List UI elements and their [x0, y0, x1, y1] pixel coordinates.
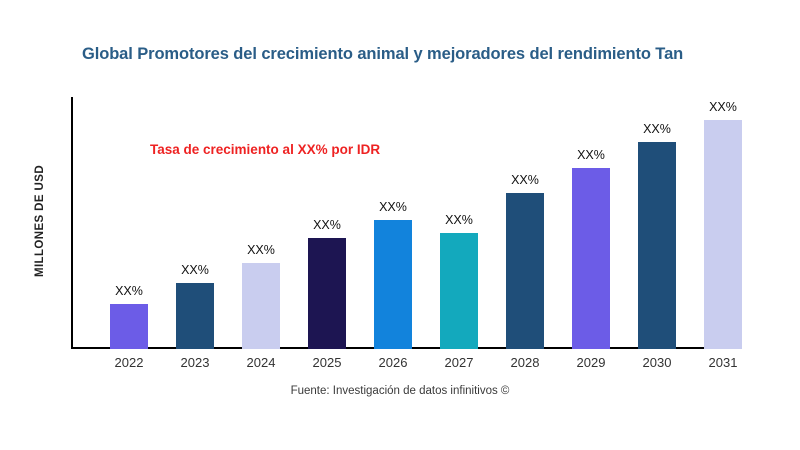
bar-slot: XX% — [96, 97, 162, 349]
x-tick-2024: 2024 — [228, 355, 294, 370]
bar-slot: XX% — [624, 97, 690, 349]
x-tick-2027: 2027 — [426, 355, 492, 370]
bar-slot: XX% — [492, 97, 558, 349]
bar-slot: XX% — [162, 97, 228, 349]
bar-value-label-2030: XX% — [624, 122, 690, 136]
bar-value-label-2022: XX% — [96, 284, 162, 298]
bar-2029[interactable] — [572, 168, 610, 349]
x-tick-2029: 2029 — [558, 355, 624, 370]
bar-chart: Global Promotores del crecimiento animal… — [0, 0, 800, 450]
bar-slot: XX% — [294, 97, 360, 349]
bar-2024[interactable] — [242, 263, 280, 349]
bar-slot: XX% — [228, 97, 294, 349]
bar-2026[interactable] — [374, 220, 412, 349]
bar-value-label-2027: XX% — [426, 213, 492, 227]
x-tick-2022: 2022 — [96, 355, 162, 370]
bar-2025[interactable] — [308, 238, 346, 349]
x-tick-2031: 2031 — [690, 355, 756, 370]
y-axis-label: MILLONES DE USD — [0, 0, 46, 450]
bar-2022[interactable] — [110, 304, 148, 349]
bar-slot: XX% — [426, 97, 492, 349]
bar-2027[interactable] — [440, 233, 478, 349]
x-tick-2028: 2028 — [492, 355, 558, 370]
bar-value-label-2031: XX% — [690, 100, 756, 114]
bar-slot: XX% — [690, 97, 756, 349]
x-tick-2030: 2030 — [624, 355, 690, 370]
y-axis-label-text: MILLONES DE USD — [34, 91, 46, 351]
bar-value-label-2028: XX% — [492, 173, 558, 187]
bar-value-label-2023: XX% — [162, 263, 228, 277]
bar-value-label-2026: XX% — [360, 200, 426, 214]
bar-2023[interactable] — [176, 283, 214, 349]
bar-slot: XX% — [558, 97, 624, 349]
bar-2028[interactable] — [506, 193, 544, 349]
bar-slot: XX% — [360, 97, 426, 349]
bar-value-label-2029: XX% — [558, 148, 624, 162]
bar-2031[interactable] — [704, 120, 742, 349]
chart-title: Global Promotores del crecimiento animal… — [82, 41, 800, 67]
growth-rate-annotation: Tasa de crecimiento al XX% por IDR — [150, 142, 380, 157]
bar-2030[interactable] — [638, 142, 676, 349]
source-caption: Fuente: Investigación de datos infinitiv… — [0, 385, 800, 397]
x-tick-2026: 2026 — [360, 355, 426, 370]
plot-area: XX%XX%XX%XX%XX%XX%XX%XX%XX%XX% — [71, 97, 800, 349]
x-tick-2023: 2023 — [162, 355, 228, 370]
bar-value-label-2024: XX% — [228, 243, 294, 257]
bar-value-label-2025: XX% — [294, 218, 360, 232]
x-tick-2025: 2025 — [294, 355, 360, 370]
